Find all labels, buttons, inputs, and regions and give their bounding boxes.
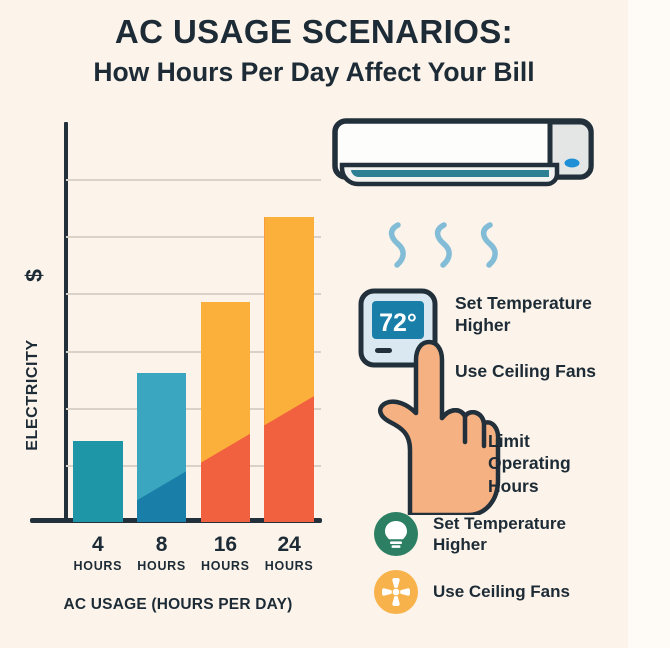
x-tick-value: 16 <box>194 534 258 555</box>
x-tick-4-hours: 4HOURS <box>66 534 130 573</box>
x-axis-ticks: 4HOURS8HOURS16HOURS24HOURS <box>66 534 321 594</box>
plot-area <box>66 122 321 522</box>
legend-item-label: Use Ceiling Fans <box>433 581 570 602</box>
legend-item-label: Set Temperature Higher <box>433 513 624 556</box>
background-right-strip <box>628 0 670 648</box>
x-tick-8-hours: 8HOURS <box>130 534 194 573</box>
bar-16-hours <box>201 302 251 522</box>
legend-item-1: Set Temperature Higher <box>374 512 624 556</box>
infographic-poster: AC USAGE SCENARIOS: How Hours Per Day Af… <box>0 0 670 648</box>
bar-chart: $ ELECTRICITY 4HOURS8HOURS16HOURS24HOURS… <box>0 110 340 530</box>
bar-8-hours <box>137 373 187 522</box>
title-line-1: AC USAGE SCENARIOS: <box>0 14 628 51</box>
hand-pointing-icon <box>372 330 502 515</box>
gridline <box>66 179 321 181</box>
x-tick-16-hours: 16HOURS <box>194 534 258 573</box>
bar-24-hours <box>264 217 314 522</box>
air-conditioner-icon <box>332 118 594 203</box>
lightbulb-icon <box>374 512 418 556</box>
ceiling-fan-icon <box>374 570 418 614</box>
x-tick-value: 4 <box>66 534 130 555</box>
x-tick-value: 24 <box>257 534 321 555</box>
title-line-2: How Hours Per Day Affect Your Bill <box>0 57 628 87</box>
page-title: AC USAGE SCENARIOS: How Hours Per Day Af… <box>0 14 628 87</box>
x-axis-title: AC USAGE (HOURS PER DAY) <box>18 596 338 614</box>
x-tick-unit: HOURS <box>66 560 130 573</box>
legend: Set Temperature HigherUse Ceiling Fans <box>374 512 624 628</box>
x-tick-unit: HOURS <box>194 560 258 573</box>
x-tick-unit: HOURS <box>130 560 194 573</box>
x-tick-value: 8 <box>130 534 194 555</box>
legend-item-2: Use Ceiling Fans <box>374 570 624 614</box>
airflow-icon <box>385 222 515 268</box>
y-axis-currency-symbol: $ <box>21 269 48 282</box>
x-tick-24-hours: 24HOURS <box>257 534 321 573</box>
x-tick-unit: HOURS <box>257 560 321 573</box>
bar-upper-segment <box>73 441 123 522</box>
tip-limit-operating-hours: Limit Operating Hours <box>488 430 608 497</box>
tip-set-temperature-higher: Set Temperature Higher <box>455 292 625 337</box>
bar-4-hours <box>73 441 123 522</box>
y-axis-label: ELECTRICITY <box>24 335 42 455</box>
tip-use-ceiling-fans: Use Ceiling Fans <box>455 360 635 382</box>
